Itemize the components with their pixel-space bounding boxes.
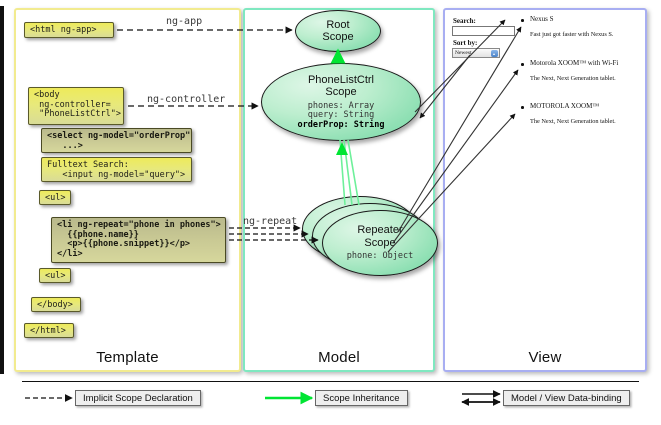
scope-repeater-name: RepeaterScope bbox=[357, 224, 402, 249]
scope-repeater-props: phone: Object bbox=[347, 252, 414, 262]
connector-label-ng-app: ng-app bbox=[166, 16, 202, 27]
scope-phonelistctrl: PhoneListCtrlScope phones: Array query: … bbox=[261, 63, 421, 141]
view-phone-snippet: The Next, Next Generation tablet. bbox=[530, 75, 616, 82]
code-box-body: <body ng-controller= "PhoneListCtrl"> bbox=[28, 87, 124, 125]
list-bullet bbox=[521, 19, 524, 22]
scope-prop-orderprop: orderProp: String bbox=[298, 121, 385, 131]
legend-model-view-data-binding: Model / View Data-binding bbox=[503, 390, 630, 406]
view-phone-name: Nexus S bbox=[530, 15, 554, 23]
view-phone-name: Motorola XOOM™ with Wi-Fi bbox=[530, 59, 618, 67]
view-search-input[interactable] bbox=[452, 26, 515, 36]
code-box-ul-close: <ul> bbox=[39, 268, 71, 283]
left-edge-bar bbox=[0, 6, 4, 374]
view-phone-snippet: Fast just got faster with Nexus S. bbox=[530, 31, 613, 38]
diagram-canvas: Template Model View <html ng-app> <body … bbox=[0, 0, 661, 425]
scope-phonelistctrl-props: phones: Array query: String orderProp: S… bbox=[298, 102, 385, 131]
list-bullet bbox=[521, 106, 524, 109]
view-sort-label: Sort by: bbox=[453, 39, 477, 47]
scope-prop-phone: phone: Object bbox=[347, 252, 414, 262]
scope-root-name: RootScope bbox=[322, 19, 353, 44]
code-box-search: Fulltext Search: <input ng-model="query"… bbox=[41, 157, 192, 182]
legend-divider bbox=[22, 381, 639, 382]
code-box-html: <html ng-app> bbox=[24, 22, 114, 38]
view-phone-name: MOTOROLA XOOM™ bbox=[530, 102, 599, 110]
code-box-ul-open: <ul> bbox=[39, 190, 71, 205]
code-box-li-repeat: <li ng-repeat="phone in phones"> {{phone… bbox=[51, 217, 226, 263]
connector-label-ng-controller: ng-controller bbox=[147, 94, 225, 105]
view-sort-selected: Newest bbox=[455, 49, 472, 58]
code-box-select: <select ng-model="orderProp" ...> bbox=[41, 128, 192, 153]
legend-implicit-scope-declaration: Implicit Scope Declaration bbox=[75, 390, 201, 406]
scope-phonelistctrl-name: PhoneListCtrlScope bbox=[308, 74, 374, 99]
scope-root: RootScope bbox=[295, 10, 381, 52]
code-box-html-close: </html> bbox=[24, 323, 74, 338]
list-bullet bbox=[521, 63, 524, 66]
view-column-title: View bbox=[445, 349, 645, 366]
scope-repeater: RepeaterScope phone: Object bbox=[322, 210, 438, 276]
model-column-title: Model bbox=[245, 349, 433, 366]
connector-label-ng-repeat: ng-repeat bbox=[243, 216, 297, 227]
template-column-title: Template bbox=[16, 349, 239, 366]
view-search-label: Search: bbox=[453, 17, 476, 25]
view-phone-snippet: The Next, Next Generation tablet. bbox=[530, 118, 616, 125]
chevron-down-icon[interactable] bbox=[491, 50, 498, 57]
view-sort-select[interactable]: Newest bbox=[452, 48, 500, 58]
code-box-body-close: </body> bbox=[31, 297, 81, 312]
legend-scope-inheritance: Scope Inheritance bbox=[315, 390, 408, 406]
